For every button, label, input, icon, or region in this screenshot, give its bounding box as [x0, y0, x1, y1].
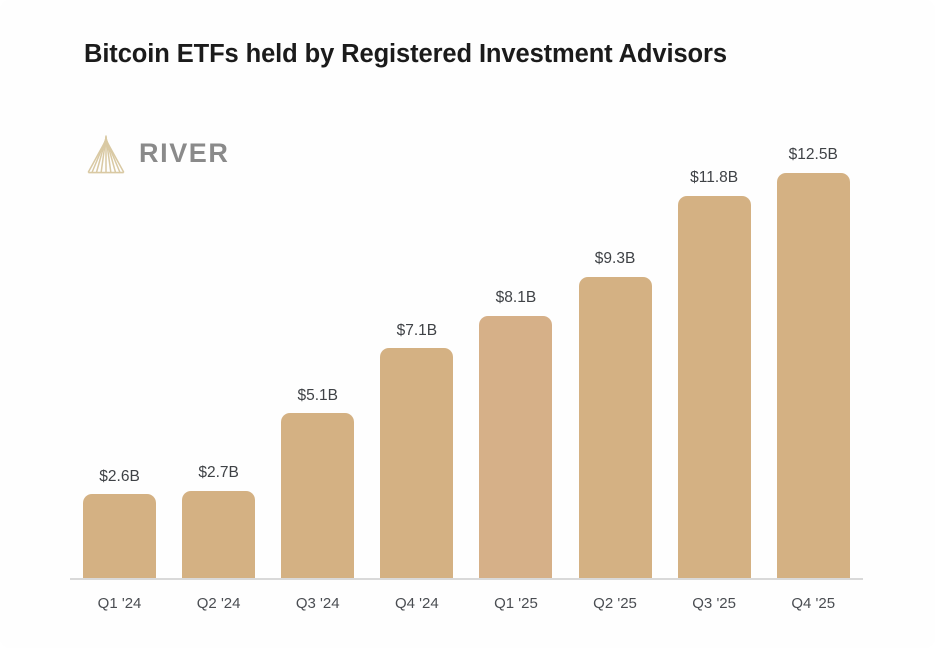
bar-value-label: $2.6B — [70, 468, 169, 486]
x-axis-tick-label: Q2 '24 — [169, 595, 268, 612]
chart-card: Bitcoin ETFs held by Registered Investme… — [0, 0, 935, 648]
plot-area: $2.6B$2.7B$5.1B$7.1B$8.1B$9.3B$11.8B$12.… — [70, 95, 863, 580]
bar-group — [268, 95, 367, 578]
bar-series: $2.6B$2.7B$5.1B$7.1B$8.1B$9.3B$11.8B$12.… — [70, 95, 863, 580]
bar-group — [70, 95, 169, 578]
bar[interactable] — [579, 277, 652, 579]
bar-value-label: $7.1B — [367, 322, 466, 340]
bar[interactable] — [479, 316, 552, 579]
bar-value-label: $9.3B — [566, 250, 665, 268]
bar[interactable] — [182, 491, 255, 579]
x-axis-line — [70, 578, 863, 580]
x-axis-tick-label: Q3 '25 — [665, 595, 764, 612]
bar-group — [764, 95, 863, 578]
bar-group — [169, 95, 268, 578]
x-axis-tick-labels: Q1 '24Q2 '24Q3 '24Q4 '24Q1 '25Q2 '25Q3 '… — [70, 595, 863, 621]
x-axis-tick-label: Q3 '24 — [268, 595, 367, 612]
bar[interactable] — [380, 348, 453, 578]
bar-value-label: $12.5B — [764, 146, 863, 164]
bar-group — [466, 95, 565, 578]
bar[interactable] — [777, 173, 850, 579]
bar-value-label: $8.1B — [466, 289, 565, 307]
bar-group — [566, 95, 665, 578]
bar-value-label: $2.7B — [169, 464, 268, 482]
x-axis-tick-label: Q1 '25 — [466, 595, 565, 612]
bar[interactable] — [281, 413, 354, 578]
bar[interactable] — [83, 494, 156, 578]
bar-value-label: $11.8B — [665, 169, 764, 187]
x-axis-tick-label: Q1 '24 — [70, 595, 169, 612]
x-axis-tick-label: Q4 '25 — [764, 595, 863, 612]
bar-value-label: $5.1B — [268, 387, 367, 405]
bar-group — [665, 95, 764, 578]
x-axis-tick-label: Q2 '25 — [566, 595, 665, 612]
page-title: Bitcoin ETFs held by Registered Investme… — [84, 40, 727, 69]
bar[interactable] — [678, 196, 751, 579]
x-axis-tick-label: Q4 '24 — [367, 595, 466, 612]
